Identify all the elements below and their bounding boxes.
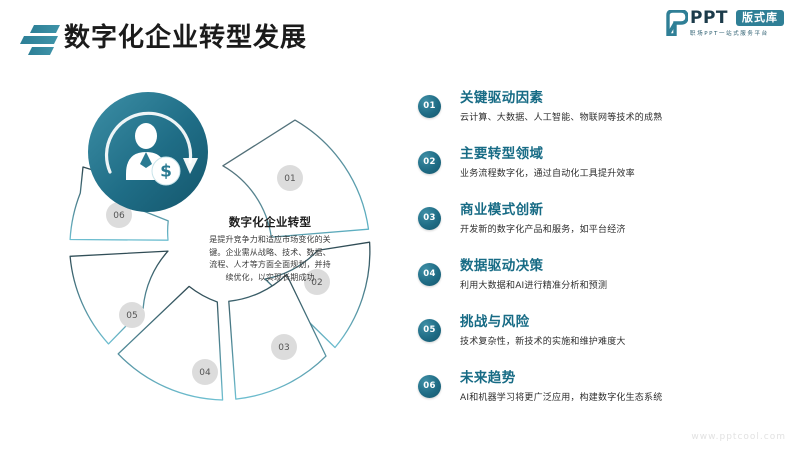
list-badge-06: 06	[418, 375, 441, 398]
list-badge-03: 03	[418, 207, 441, 230]
list-item-desc: 开发新的数字化产品和服务，如平台经济	[460, 222, 788, 238]
segment-number-03: 03	[278, 343, 289, 353]
page-title: 数字化企业转型发展	[64, 18, 307, 58]
brand-logo: PPT 版式库 职场PPT一站式服务平台	[666, 8, 786, 40]
list-item[interactable]: 03 商业模式创新 开发新的数字化产品和服务，如平台经济	[418, 201, 788, 256]
list-item[interactable]: 05 挑战与风险 技术复杂性，新技术的实施和维护难度大	[418, 313, 788, 368]
list-badge-05: 05	[418, 319, 441, 342]
three-bars-icon	[18, 22, 62, 60]
list-badge-02: 02	[418, 151, 441, 174]
segment-number-06: 06	[113, 211, 125, 221]
list-item-title: 挑战与风险	[460, 313, 788, 332]
transformation-list: 01 关键驱动因素 云计算、大数据、人工智能、物联网等技术的成熟 02 主要转型…	[418, 88, 788, 424]
brand-badge: 版式库	[736, 10, 784, 26]
brand-subtitle: 职场PPT一站式服务平台	[690, 29, 769, 37]
brand-name: PPT	[690, 9, 728, 27]
segment-number-01: 01	[284, 174, 295, 184]
list-item-desc: 云计算、大数据、人工智能、物联网等技术的成熟	[460, 110, 788, 126]
circular-process-diagram: 01 02 03 04 05 06	[40, 70, 400, 430]
center-body: 是提升竞争力和适应市场变化的关键。企业需从战略、技术、数据、流程、人才等方面全面…	[208, 234, 332, 284]
segment-number-04: 04	[199, 368, 211, 378]
center-title: 数字化企业转型	[208, 214, 332, 230]
list-item-title: 未来趋势	[460, 369, 788, 388]
list-item[interactable]: 02 主要转型领域 业务流程数字化，通过自动化工具提升效率	[418, 145, 788, 200]
list-item-desc: AI和机器学习将更广泛应用，构建数字化生态系统	[460, 390, 788, 406]
list-item-title: 数据驱动决策	[460, 257, 788, 276]
list-item[interactable]: 04 数据驱动决策 利用大数据和AI进行精准分析和预测	[418, 257, 788, 312]
svg-text:$: $	[160, 162, 172, 182]
list-item-desc: 业务流程数字化，通过自动化工具提升效率	[460, 166, 788, 182]
list-item-title: 关键驱动因素	[460, 89, 788, 108]
list-badge-04: 04	[418, 263, 441, 286]
diagram-center-text: 数字化企业转型 是提升竞争力和适应市场变化的关键。企业需从战略、技术、数据、流程…	[208, 214, 332, 284]
watermark: www.pptcool.com	[691, 432, 786, 442]
list-item-title: 商业模式创新	[460, 201, 788, 220]
list-badge-01: 01	[418, 95, 441, 118]
list-item-title: 主要转型领域	[460, 145, 788, 164]
segment-number-05: 05	[126, 311, 137, 321]
hub-circle: $	[88, 92, 208, 212]
list-item-desc: 利用大数据和AI进行精准分析和预测	[460, 278, 788, 294]
brand-p-mark-icon	[666, 10, 688, 36]
list-item-desc: 技术复杂性，新技术的实施和维护难度大	[460, 334, 788, 350]
list-item[interactable]: 06 未来趋势 AI和机器学习将更广泛应用，构建数字化生态系统	[418, 369, 788, 424]
list-item[interactable]: 01 关键驱动因素 云计算、大数据、人工智能、物联网等技术的成熟	[418, 89, 788, 144]
page-header: 数字化企业转型发展 PPT 版式库 职场PPT一站式服务平台	[0, 0, 800, 66]
